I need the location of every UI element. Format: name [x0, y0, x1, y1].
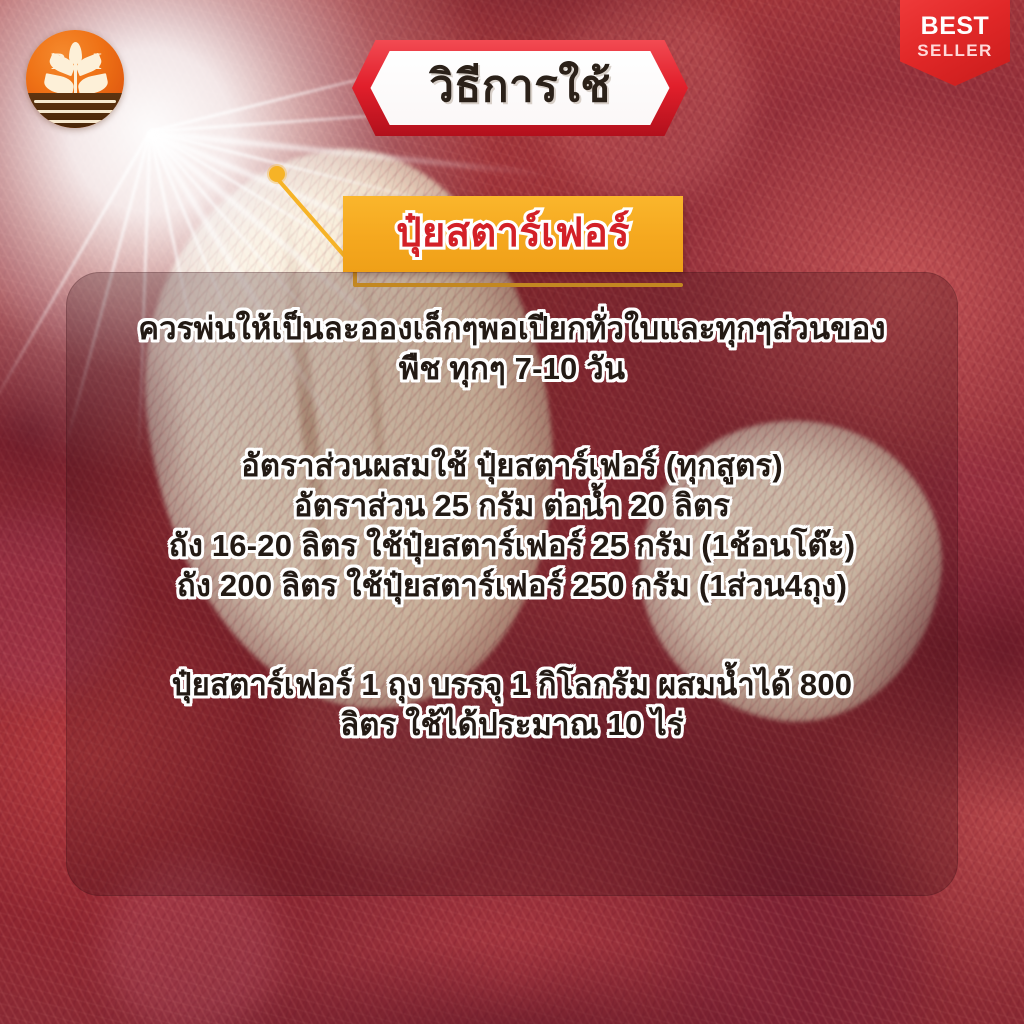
logo-furrow	[34, 120, 116, 123]
instruction-line: อัตราส่วน 25 กรัม ต่อน้ำ 20 ลิตร	[294, 486, 730, 526]
best-seller-line2: SELLER	[917, 42, 992, 59]
promo-card: P I BEST SELLER วิธีการใช้ ปุ๋ยสตาร์เฟอร…	[0, 0, 1024, 1024]
instruction-line: ลิตร ใช้ได้ประมาณ 10 ไร่	[340, 705, 684, 745]
instruction-block-2: อัตราส่วนผสมใช้ ปุ๋ยสตาร์เฟอร์ (ทุกสูตร)…	[91, 446, 933, 607]
logo-furrow	[34, 100, 116, 103]
instruction-line: ถัง 16-20 ลิตร ใช้ปุ๋ยสตาร์เฟอร์ 25 กรัม…	[169, 526, 856, 566]
pi-sprout-logo[interactable]: P I	[26, 30, 124, 128]
instructions-panel: ควรพ่นให้เป็นละอองเล็กๆพอเปียกทั่วใบและท…	[66, 272, 958, 896]
instruction-line: พืช ทุกๆ 7-10 วัน	[399, 349, 626, 389]
best-seller-line1: BEST	[921, 14, 990, 39]
product-name-banner: ปุ๋ยสตาร์เฟอร์	[343, 196, 683, 272]
instruction-line: ถัง 200 ลิตร ใช้ปุ๋ยสตาร์เฟอร์ 250 กรัม …	[177, 566, 847, 606]
product-name: ปุ๋ยสตาร์เฟอร์	[396, 200, 630, 268]
instruction-line: อัตราส่วนผสมใช้ ปุ๋ยสตาร์เฟอร์ (ทุกสูตร)	[241, 446, 783, 486]
logo-furrow	[34, 110, 116, 113]
page-title: วิธีการใช้	[352, 40, 688, 136]
instruction-block-3: ปุ๋ยสตาร์เฟอร์ 1 ถุง บรรจุ 1 กิโลกรัม ผส…	[91, 665, 933, 746]
instruction-line: ควรพ่นให้เป็นละอองเล็กๆพอเปียกทั่วใบและท…	[138, 309, 886, 349]
instruction-line: ปุ๋ยสตาร์เฟอร์ 1 ถุง บรรจุ 1 กิโลกรัม ผส…	[172, 665, 852, 705]
title-banner: วิธีการใช้	[352, 40, 688, 136]
instructions-body: ควรพ่นให้เป็นละอองเล็กๆพอเปียกทั่วใบและท…	[67, 273, 957, 895]
logo-soil-icon	[26, 93, 124, 128]
instruction-block-1: ควรพ่นให้เป็นละอองเล็กๆพอเปียกทั่วใบและท…	[91, 309, 933, 390]
